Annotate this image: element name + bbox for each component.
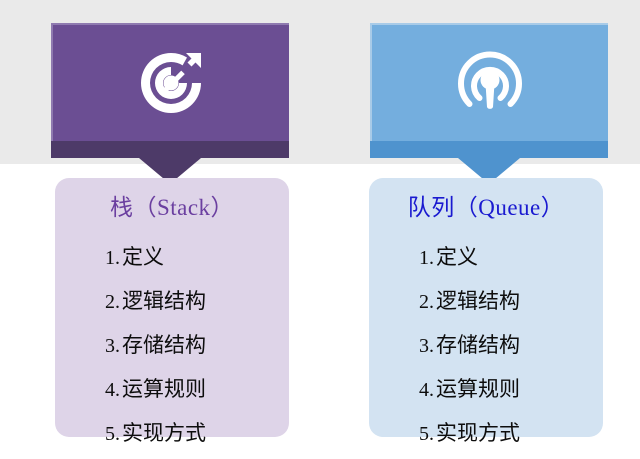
broadcast-signal-icon (454, 47, 526, 119)
list-item: 1.定义 (419, 236, 603, 280)
list-item: 3.存储结构 (419, 324, 603, 368)
list-item-label: 运算规则 (436, 377, 520, 401)
stack-card-title: 栈（Stack） (55, 178, 289, 219)
list-item: 5.实现方式 (105, 412, 289, 456)
stack-header-block (51, 23, 289, 141)
list-item: 2.逻辑结构 (105, 280, 289, 324)
list-item-label: 定义 (122, 245, 164, 269)
list-item-number: 3. (419, 335, 436, 357)
queue-item-list: 1.定义 2.逻辑结构 3.存储结构 4.运算规则 5.实现方式 (369, 219, 603, 456)
target-bullseye-icon (135, 47, 207, 119)
list-item-label: 存储结构 (122, 333, 206, 357)
stack-card: 栈（Stack） 1.定义 2.逻辑结构 3.存储结构 4.运算规则 5.实现方… (55, 178, 289, 437)
queue-header-strip (370, 141, 608, 158)
list-item-label: 运算规则 (122, 377, 206, 401)
list-item-label: 逻辑结构 (122, 289, 206, 313)
list-item-number: 4. (419, 379, 436, 401)
stack-header-strip (51, 141, 289, 158)
queue-card: 队列（Queue） 1.定义 2.逻辑结构 3.存储结构 4.运算规则 5.实现… (369, 178, 603, 437)
list-item: 1.定义 (105, 236, 289, 280)
list-item-number: 2. (419, 291, 436, 313)
list-item-number: 5. (419, 423, 436, 445)
list-item-label: 实现方式 (436, 421, 520, 445)
list-item: 5.实现方式 (419, 412, 603, 456)
list-item: 2.逻辑结构 (419, 280, 603, 324)
list-item-number: 5. (105, 423, 122, 445)
list-item-number: 3. (105, 335, 122, 357)
queue-header-panel (370, 23, 608, 141)
list-item: 4.运算规则 (419, 368, 603, 412)
list-item-label: 逻辑结构 (436, 289, 520, 313)
list-item: 3.存储结构 (105, 324, 289, 368)
queue-header-block (370, 23, 608, 141)
list-item-number: 2. (105, 291, 122, 313)
list-item-label: 定义 (436, 245, 478, 269)
stack-item-list: 1.定义 2.逻辑结构 3.存储结构 4.运算规则 5.实现方式 (55, 219, 289, 456)
stack-header-panel (51, 23, 289, 141)
list-item-number: 4. (105, 379, 122, 401)
list-item-number: 1. (419, 247, 436, 269)
list-item-number: 1. (105, 247, 122, 269)
list-item-label: 实现方式 (122, 421, 206, 445)
list-item: 4.运算规则 (105, 368, 289, 412)
slide-canvas: 栈（Stack） 1.定义 2.逻辑结构 3.存储结构 4.运算规则 5.实现方… (0, 0, 640, 459)
list-item-label: 存储结构 (436, 333, 520, 357)
queue-card-title: 队列（Queue） (369, 178, 603, 219)
